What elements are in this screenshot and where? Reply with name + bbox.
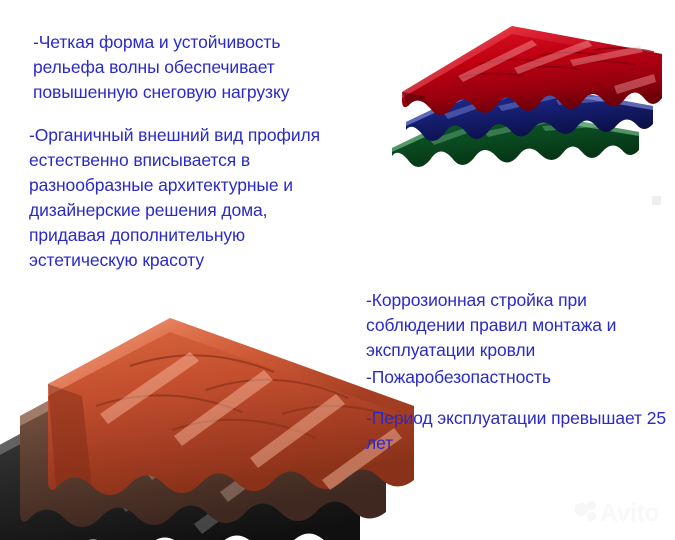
metal-tile-stack-earth	[0, 288, 364, 540]
avito-dots-icon	[576, 502, 598, 524]
avito-watermark: Avito	[576, 496, 668, 530]
promo-image-canvas: -Четкая форма и устойчивость рельефа вол…	[0, 0, 675, 540]
tile-sheet-terracotta	[44, 288, 414, 540]
feature-text-appearance: -Органичный внешний вид профиля естестве…	[29, 123, 339, 273]
metal-tile-stack-colors	[352, 8, 672, 178]
feature-text-service-life: -Период эксплуатации превышает 25 лет	[366, 406, 666, 456]
feature-text-corrosion: -Коррозионная стройка при соблюдении пра…	[366, 288, 666, 363]
avito-watermark-label: Avito	[600, 501, 659, 526]
tile-sheet-red	[362, 12, 675, 182]
feature-text-snow-load: -Четкая форма и устойчивость рельефа вол…	[33, 30, 338, 105]
feature-text-fire-safety: -Пожаробезопастность	[366, 365, 666, 390]
